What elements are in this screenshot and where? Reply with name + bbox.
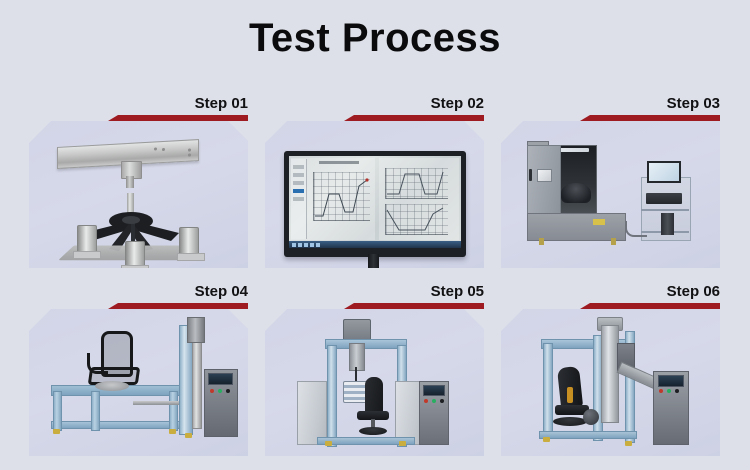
page-title: Test Process	[0, 14, 750, 62]
panel-button-red[interactable]	[424, 399, 428, 403]
step-label-04: Step 04	[195, 283, 248, 301]
step-card-04[interactable]: Step 04	[29, 284, 248, 456]
panel-button-black[interactable]	[675, 389, 679, 393]
cart-monitor-screen	[649, 163, 679, 181]
chamber-specimen	[561, 183, 591, 203]
panel-button-red[interactable]	[210, 389, 214, 393]
load-ram-lower	[126, 176, 134, 188]
bench-leg-right	[169, 391, 178, 431]
panel-button-black[interactable]	[226, 389, 230, 393]
step-card-05[interactable]: Step 05	[265, 284, 484, 456]
monitor-bezel	[284, 151, 466, 257]
step-image-frame-06	[501, 309, 720, 456]
step-accent-bar-04	[108, 303, 248, 309]
frame-foot-right	[625, 441, 632, 446]
software-title-text	[319, 161, 359, 164]
fixture-foot-front	[121, 265, 149, 268]
caster-weight-front	[125, 241, 145, 268]
pneumatic-cylinder	[349, 343, 365, 371]
office-chair-specimen	[357, 377, 393, 435]
test-bench-bottom-rail	[51, 421, 181, 429]
chair-base-plate	[95, 381, 129, 391]
machine-base-deck	[539, 431, 637, 439]
control-panel-display	[208, 373, 233, 385]
chair-lumbar-accent	[567, 387, 573, 403]
fixture-foot-right	[177, 253, 205, 261]
chamber-door-window	[537, 169, 552, 182]
chart-curve-bottom-right	[385, 204, 447, 234]
step-image-frame-03	[501, 121, 720, 268]
bench-leg-mid	[91, 391, 100, 431]
step-photo-05	[265, 309, 484, 456]
step-card-03[interactable]: Step 03	[501, 96, 720, 268]
step-label-01: Step 01	[195, 95, 248, 113]
bench-leg-left	[53, 391, 62, 431]
step-photo-01	[29, 121, 248, 268]
step-photo-04	[29, 309, 248, 456]
step-label-02: Step 02	[431, 95, 484, 113]
bench-foot-left	[53, 429, 60, 434]
panel-button-red[interactable]	[659, 389, 663, 393]
os-taskbar	[289, 241, 461, 248]
step-photo-02	[265, 121, 484, 268]
step-label-06: Step 06	[667, 283, 720, 301]
step-card-01[interactable]: Step 01	[29, 96, 248, 268]
enclosure-foot-left	[325, 441, 332, 446]
panel-button-green[interactable]	[432, 399, 436, 403]
cart-pc-tower	[661, 213, 674, 235]
step-card-06[interactable]: Step 06	[501, 284, 720, 456]
control-panel-display	[658, 375, 684, 387]
cart-shelf-upper	[641, 209, 689, 211]
frame-post-left	[543, 343, 553, 439]
step-accent-bar-06	[580, 303, 720, 309]
monitor-stand-neck	[368, 254, 379, 268]
panel-button-green[interactable]	[218, 389, 222, 393]
cart-printer	[646, 193, 682, 204]
step-image-frame-01	[29, 121, 248, 268]
bench-foot-right	[169, 429, 176, 434]
chair-frame-specimen	[85, 331, 139, 393]
software-sidebar	[291, 159, 307, 239]
gantry-crossbeam	[325, 339, 407, 349]
chamber-foot-right	[611, 238, 616, 245]
chart-curve-top-right	[385, 168, 447, 198]
chair-armrest-frame	[87, 353, 108, 374]
chamber-foot-left	[539, 238, 544, 245]
cart-monitor	[647, 161, 681, 183]
control-panel-display	[423, 385, 445, 396]
step-photo-03	[501, 121, 720, 268]
actuator-head	[187, 317, 205, 343]
step-accent-bar-03	[580, 115, 720, 121]
gantry-leg-left	[327, 345, 337, 447]
test-process-page: Test Process Step 01	[0, 0, 750, 470]
step-image-frame-05	[265, 309, 484, 456]
chair-backrest	[365, 377, 383, 415]
chamber-door-handle	[529, 169, 532, 181]
step-image-frame-04	[29, 309, 248, 456]
fixture-foot-left	[73, 251, 101, 259]
warning-label	[593, 219, 605, 225]
vertical-actuator-tower	[601, 325, 619, 423]
horizontal-push-rod	[133, 401, 179, 405]
step-photo-06	[501, 309, 720, 456]
panel-button-green[interactable]	[667, 389, 671, 393]
chair-star-base	[553, 417, 587, 426]
enclosure-door-left[interactable]	[297, 381, 327, 445]
chart-curve-left	[313, 172, 369, 220]
step-label-03: Step 03	[667, 95, 720, 113]
step-accent-bar-02	[344, 115, 484, 121]
column-foot	[185, 433, 192, 438]
step-accent-bar-01	[108, 115, 248, 121]
step-image-frame-02	[265, 121, 484, 268]
steps-grid: Step 01	[29, 96, 721, 456]
step-accent-bar-05	[344, 303, 484, 309]
lower-pneumatic-cylinder	[583, 409, 599, 425]
step-card-02[interactable]: Step 02	[265, 96, 484, 268]
step-label-05: Step 05	[431, 283, 484, 301]
panel-button-black[interactable]	[440, 399, 444, 403]
frame-foot-left	[543, 437, 550, 442]
chamber-base-cabinet	[527, 213, 626, 241]
chair-star-base	[359, 427, 387, 435]
monitor-screen	[289, 156, 461, 248]
power-cable	[625, 221, 647, 237]
enclosure-foot-right	[399, 441, 406, 446]
